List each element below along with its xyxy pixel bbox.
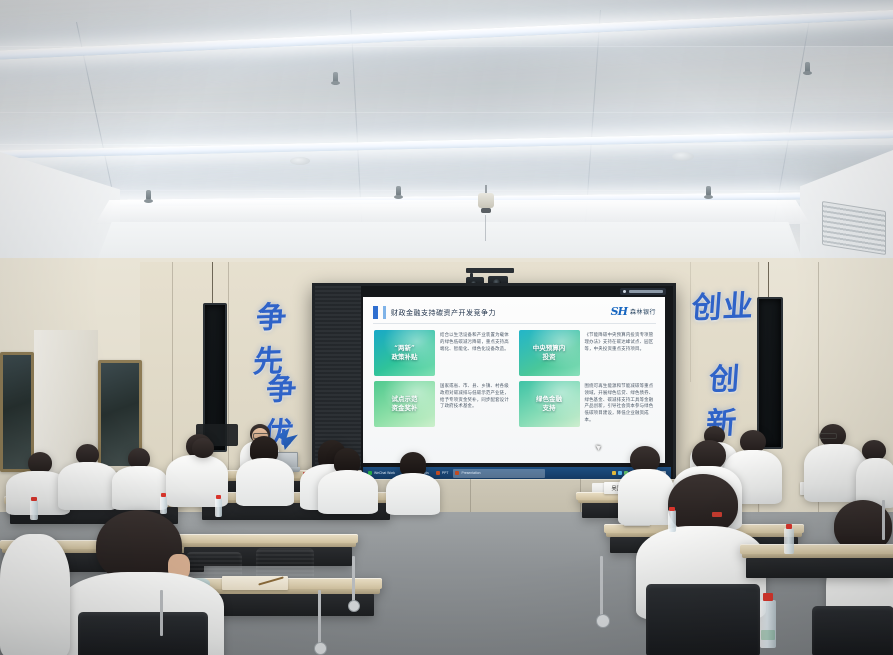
- card-thumbnail: 绿色金融 支持: [519, 381, 580, 427]
- desk-caster: [314, 642, 327, 655]
- chair[interactable]: [78, 612, 208, 655]
- desk-caster: [596, 614, 610, 628]
- ceiling-seam: [0, 112, 893, 113]
- glasses-icon: [819, 433, 837, 439]
- card-text-column: 国家或省、市、县、乡镇、村各级政府对碳减排与低碳示范产业链，给予专项资金奖补，同…: [440, 381, 511, 427]
- card-body: 国家或省、市、县、乡镇、村各级政府对碳减排与低碳示范产业链，给予专项资金奖补，同…: [440, 381, 511, 410]
- desk-leg: [882, 500, 885, 540]
- smoke-detector-icon: [672, 152, 694, 161]
- desk-leg: [160, 590, 163, 636]
- water-bottle[interactable]: [760, 600, 776, 648]
- taskbar-item-active[interactable]: Presentation: [453, 469, 545, 478]
- smoke-detector-icon: [290, 157, 310, 165]
- title-marker-icon: [373, 306, 378, 319]
- attendee: [178, 438, 230, 502]
- overlay-dot-icon: [623, 290, 626, 293]
- water-bottle[interactable]: [30, 500, 38, 520]
- attendee: [58, 444, 118, 508]
- projection-top-overlay[interactable]: [620, 288, 666, 295]
- desk-caster: [348, 600, 360, 612]
- ceiling-panel-row-2: [0, 46, 893, 145]
- ceiling: [0, 0, 893, 300]
- sprinkler-icon: [146, 190, 151, 200]
- attendee: [236, 436, 294, 502]
- slide-title-row: 财政金融支持碳资产开发竞争力: [373, 306, 496, 319]
- card-thumb-title: “两新” 政策补贴: [392, 344, 418, 362]
- card-body: 结合以生活设备和产业装置为载体的绿色低碳减污降碳，重点支持高端化、智能化、绿色化…: [440, 330, 511, 352]
- card-thumb-title: 绿色金融 支持: [536, 395, 562, 413]
- card-text-column: 结合以生活设备和产业装置为载体的绿色低碳减污降碳，重点支持高端化、智能化、绿色化…: [440, 330, 511, 376]
- sprinkler-icon: [805, 62, 810, 75]
- logo-mark-icon: SH: [611, 305, 627, 318]
- conference-room-photo: 争先 争优 创业 创新 财政金融: [0, 0, 893, 655]
- card-thumb-title: 中央预算内 投资: [533, 344, 566, 362]
- desk-leg: [600, 556, 603, 616]
- card-body: 《节能降碳中央预算内投资专项管理办法》支持在碳达峰试点、园区等，中央投资重点支持…: [585, 330, 656, 352]
- tray-icon[interactable]: [612, 471, 616, 475]
- speaker-cable: [768, 262, 769, 298]
- brand-logo: SH 森林银行: [611, 305, 656, 318]
- calligraphy-right: 创业 创新: [690, 282, 760, 442]
- ceiling-projector: [478, 185, 494, 215]
- projector-cable: [485, 215, 486, 241]
- card-thumbnail: “两新” 政策补贴: [374, 330, 435, 376]
- red-object: [712, 512, 722, 517]
- overlay-bar: [629, 290, 663, 293]
- app-icon: [455, 471, 459, 475]
- logo-text: 森林银行: [630, 307, 656, 316]
- sprinkler-icon: [396, 186, 401, 196]
- desk-leg: [318, 590, 321, 644]
- attendee: [0, 534, 70, 654]
- sprinkler-icon: [333, 72, 338, 85]
- title-marker-secondary-icon: [383, 306, 386, 319]
- slide-divider: [373, 323, 656, 324]
- coffer-lip: [95, 200, 810, 224]
- slide-card: 试点示范 资金奖补 国家或省、市、县、乡镇、村各级政府对碳减排与低碳示范产业链，…: [374, 381, 511, 427]
- attendee: [856, 440, 893, 504]
- water-bottle[interactable]: [668, 510, 676, 532]
- slide-card: 中央预算内 投资 《节能降碳中央预算内投资专项管理办法》支持在碳达峰试点、园区等…: [519, 330, 656, 376]
- chair[interactable]: [812, 606, 893, 655]
- taskbar-item-label: PPT: [442, 471, 449, 475]
- card-body: 围绕可再生能源和节能减碳等重点领域，开展绿色信贷、绿色债券、绿色基金、碳减排支持…: [585, 381, 656, 424]
- taskbar-item-label: Presentation: [461, 471, 480, 475]
- chair[interactable]: [646, 584, 760, 655]
- sprinkler-icon: [706, 186, 711, 196]
- calligraphy-right-line1: 创业: [690, 281, 755, 327]
- desk-right-front: [740, 544, 893, 580]
- slide-title: 财政金融支持碳资产开发竞争力: [391, 308, 496, 318]
- bottle-label: [761, 630, 775, 640]
- slide-card-grid: “两新” 政策补贴 结合以生活设备和产业装置为载体的绿色低碳减污降碳，重点支持高…: [374, 330, 655, 427]
- slide-card: 绿色金融 支持 围绕可再生能源和节能减碳等重点领域，开展绿色信贷、绿色债券、绿色…: [519, 381, 656, 427]
- attendee: [318, 448, 378, 510]
- card-thumbnail: 中央预算内 投资: [519, 330, 580, 376]
- screen-top-band: [361, 286, 673, 297]
- attendee: [386, 452, 440, 510]
- ceiling-seam: [0, 190, 893, 191]
- card-text-column: 围绕可再生能源和节能减碳等重点领域，开展绿色信贷、绿色债券、绿色基金、碳减排支持…: [585, 381, 656, 427]
- slide-card: “两新” 政策补贴 结合以生活设备和产业装置为载体的绿色低碳减污降碳，重点支持高…: [374, 330, 511, 376]
- slide-surface[interactable]: 财政金融支持碳资产开发竞争力 SH 森林银行 “两新” 政策补贴 结合以生活设备…: [363, 297, 665, 463]
- speaker-cable: [212, 262, 213, 304]
- water-bottle[interactable]: [784, 528, 794, 554]
- card-thumb-title: 试点示范 资金奖补: [392, 395, 418, 413]
- desk-leg: [352, 556, 355, 602]
- card-text-column: 《节能降碳中央预算内投资专项管理办法》支持在碳达峰试点、园区等，中央投资重点支持…: [585, 330, 656, 376]
- card-thumbnail: 试点示范 资金奖补: [374, 381, 435, 427]
